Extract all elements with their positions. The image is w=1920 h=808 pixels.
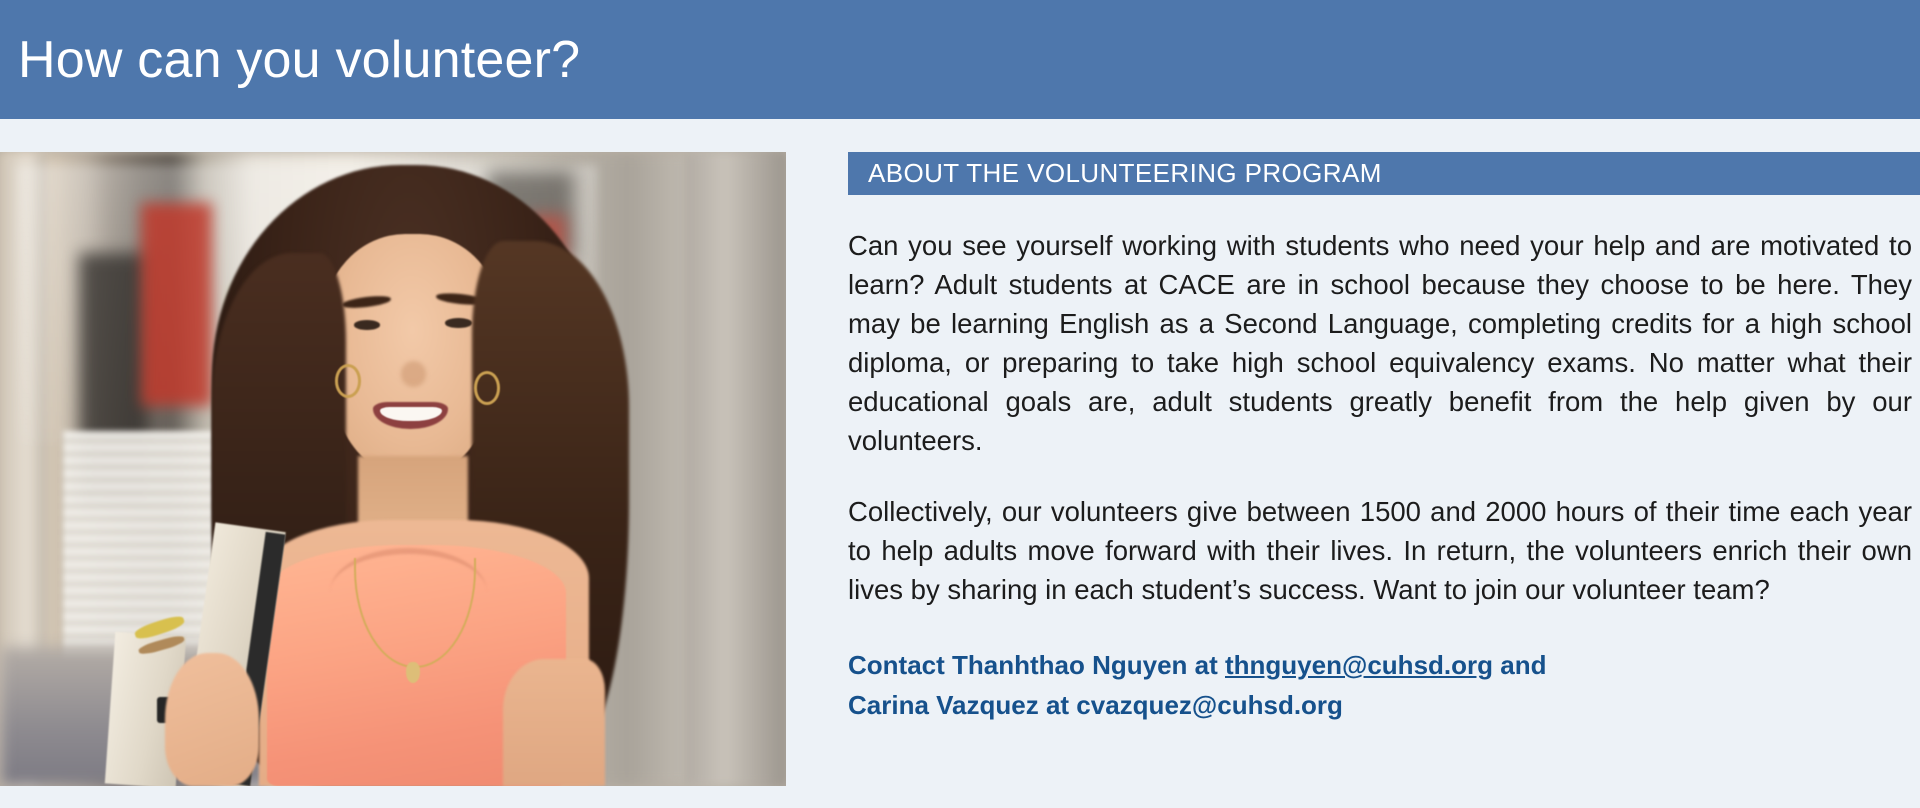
photo-subject (0, 152, 786, 786)
student-photo (0, 152, 786, 786)
contact-line-2: Carina Vazquez at cvazquez@cuhsd.org (848, 685, 1920, 725)
contact-prefix: Contact Thanhthao Nguyen at (848, 650, 1225, 680)
page-title: How can you volunteer? (0, 34, 580, 86)
subject-eye-right (445, 318, 472, 328)
about-paragraph-2: Collectively, our volunteers give betwee… (848, 492, 1912, 609)
about-body: Can you see yourself working with studen… (848, 226, 1912, 609)
page-header-banner: How can you volunteer? (0, 0, 1920, 119)
student-photo-image (0, 152, 786, 786)
subject-nose (401, 361, 426, 386)
section-header-bar: ABOUT THE VOLUNTEERING PROGRAM (848, 152, 1920, 195)
about-paragraph-1: Can you see yourself working with studen… (848, 226, 1912, 460)
contact-email-link-thnguyen[interactable]: thnguyen@cuhsd.org (1225, 650, 1493, 680)
subject-pendant (406, 662, 419, 682)
subject-arm-right (503, 659, 605, 786)
contact-block: Contact Thanhthao Nguyen at thnguyen@cuh… (848, 645, 1920, 725)
about-section: ABOUT THE VOLUNTEERING PROGRAM Can you s… (848, 152, 1920, 725)
section-header-label: ABOUT THE VOLUNTEERING PROGRAM (868, 158, 1382, 189)
contact-line-1: Contact Thanhthao Nguyen at thnguyen@cuh… (848, 645, 1920, 685)
volunteer-page: How can you volunteer? (0, 0, 1920, 808)
contact-suffix: and (1493, 650, 1546, 680)
subject-eye-left (354, 320, 381, 330)
subject-hand (165, 653, 259, 786)
